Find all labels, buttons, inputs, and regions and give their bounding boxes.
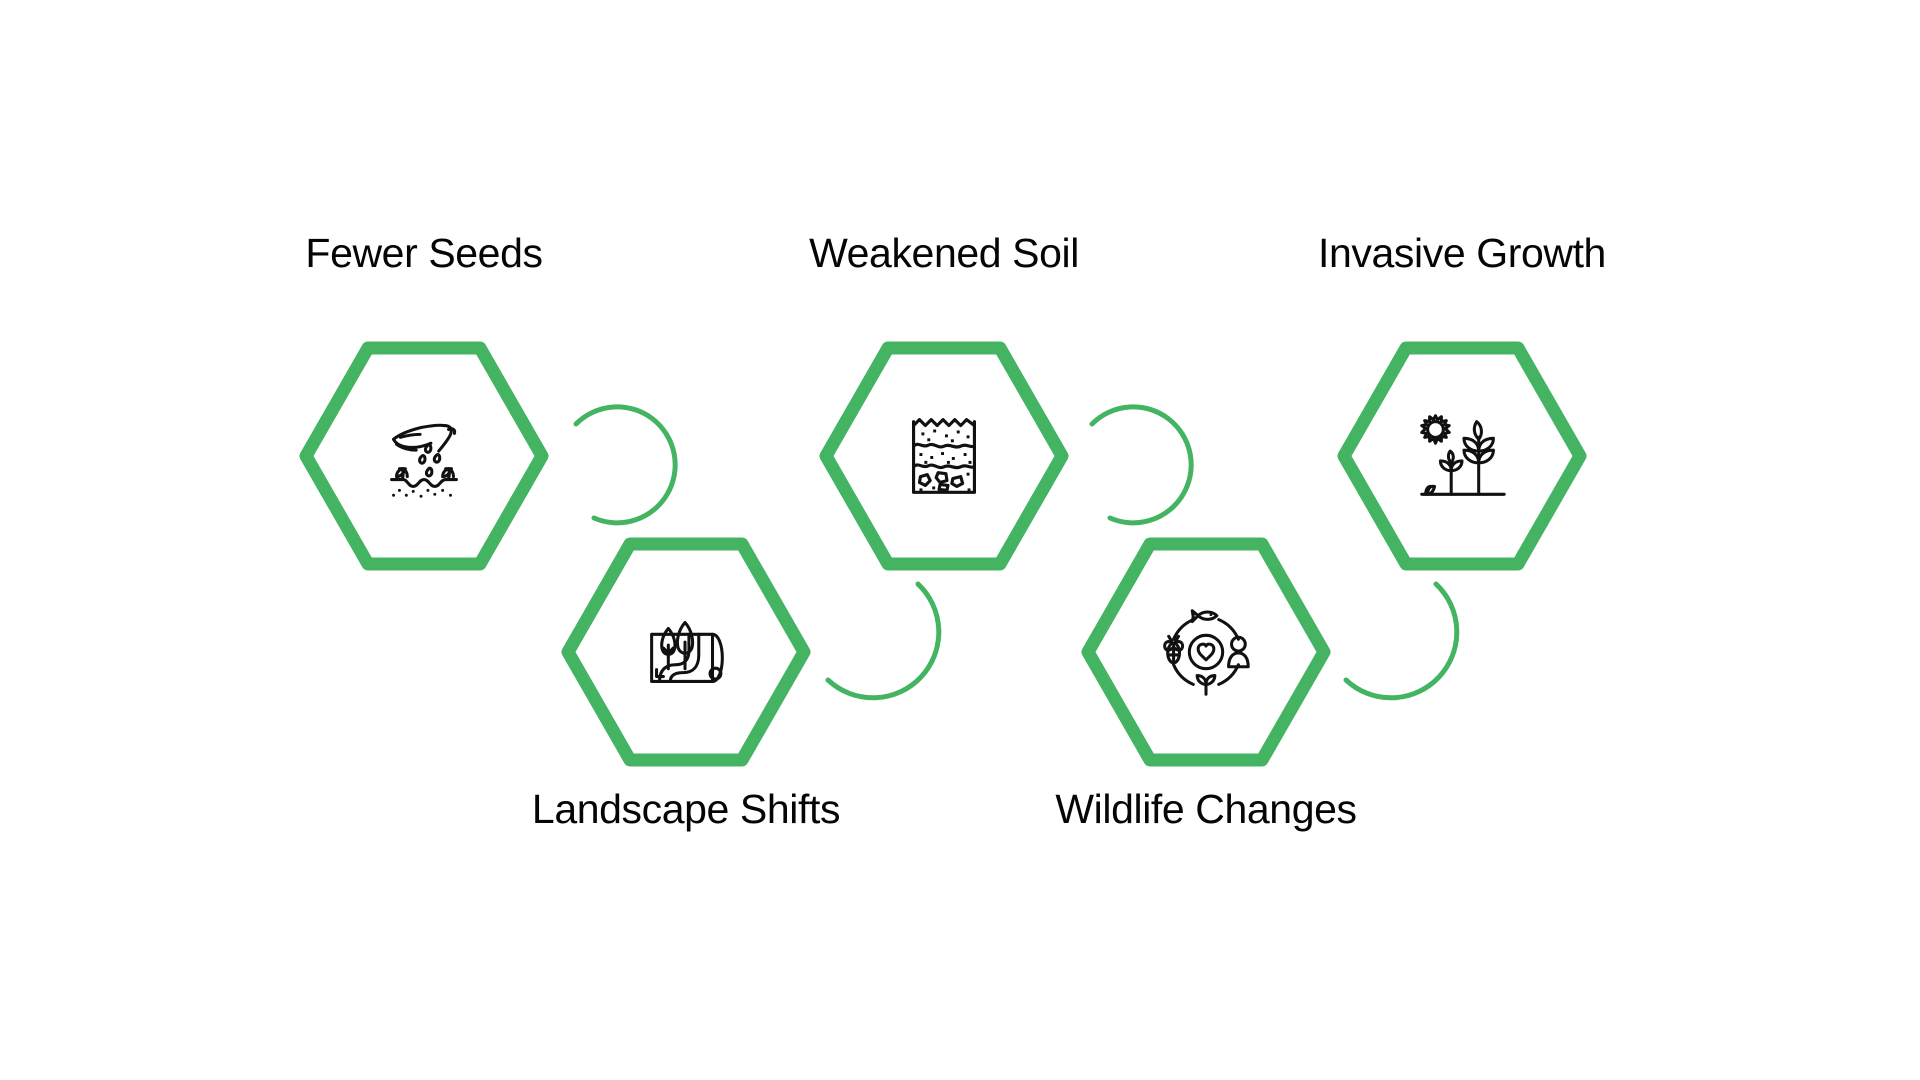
node-label-weakened-soil: Weakened Soil: [684, 230, 1204, 277]
node-invasive-growth[interactable]: Invasive Growth: [1334, 338, 1590, 574]
soil-layers-icon: [884, 396, 1004, 516]
infographic-canvas: Fewer Seeds: [0, 0, 1920, 1080]
connector-3-arc: [1064, 392, 1224, 552]
node-label-landscape-shifts: Landscape Shifts: [426, 786, 946, 833]
node-label-wildlife-changes: Wildlife Changes: [946, 786, 1466, 833]
connector-2-arc: [800, 556, 960, 716]
hand-sowing-seeds-icon: [364, 396, 484, 516]
connector-1-arc: [548, 392, 708, 552]
node-fewer-seeds[interactable]: Fewer Seeds: [296, 338, 552, 574]
landscape-blueprint-icon: [626, 592, 746, 712]
plant-growth-sun-icon: [1402, 396, 1522, 516]
node-landscape-shifts[interactable]: Landscape Shifts: [558, 534, 814, 770]
connector-4-arc: [1318, 556, 1478, 716]
node-label-fewer-seeds: Fewer Seeds: [164, 230, 684, 277]
biodiversity-circle-icon: [1146, 592, 1266, 712]
node-label-invasive-growth: Invasive Growth: [1202, 230, 1722, 277]
node-weakened-soil[interactable]: Weakened Soil: [816, 338, 1072, 574]
node-wildlife-changes[interactable]: Wildlife Changes: [1078, 534, 1334, 770]
